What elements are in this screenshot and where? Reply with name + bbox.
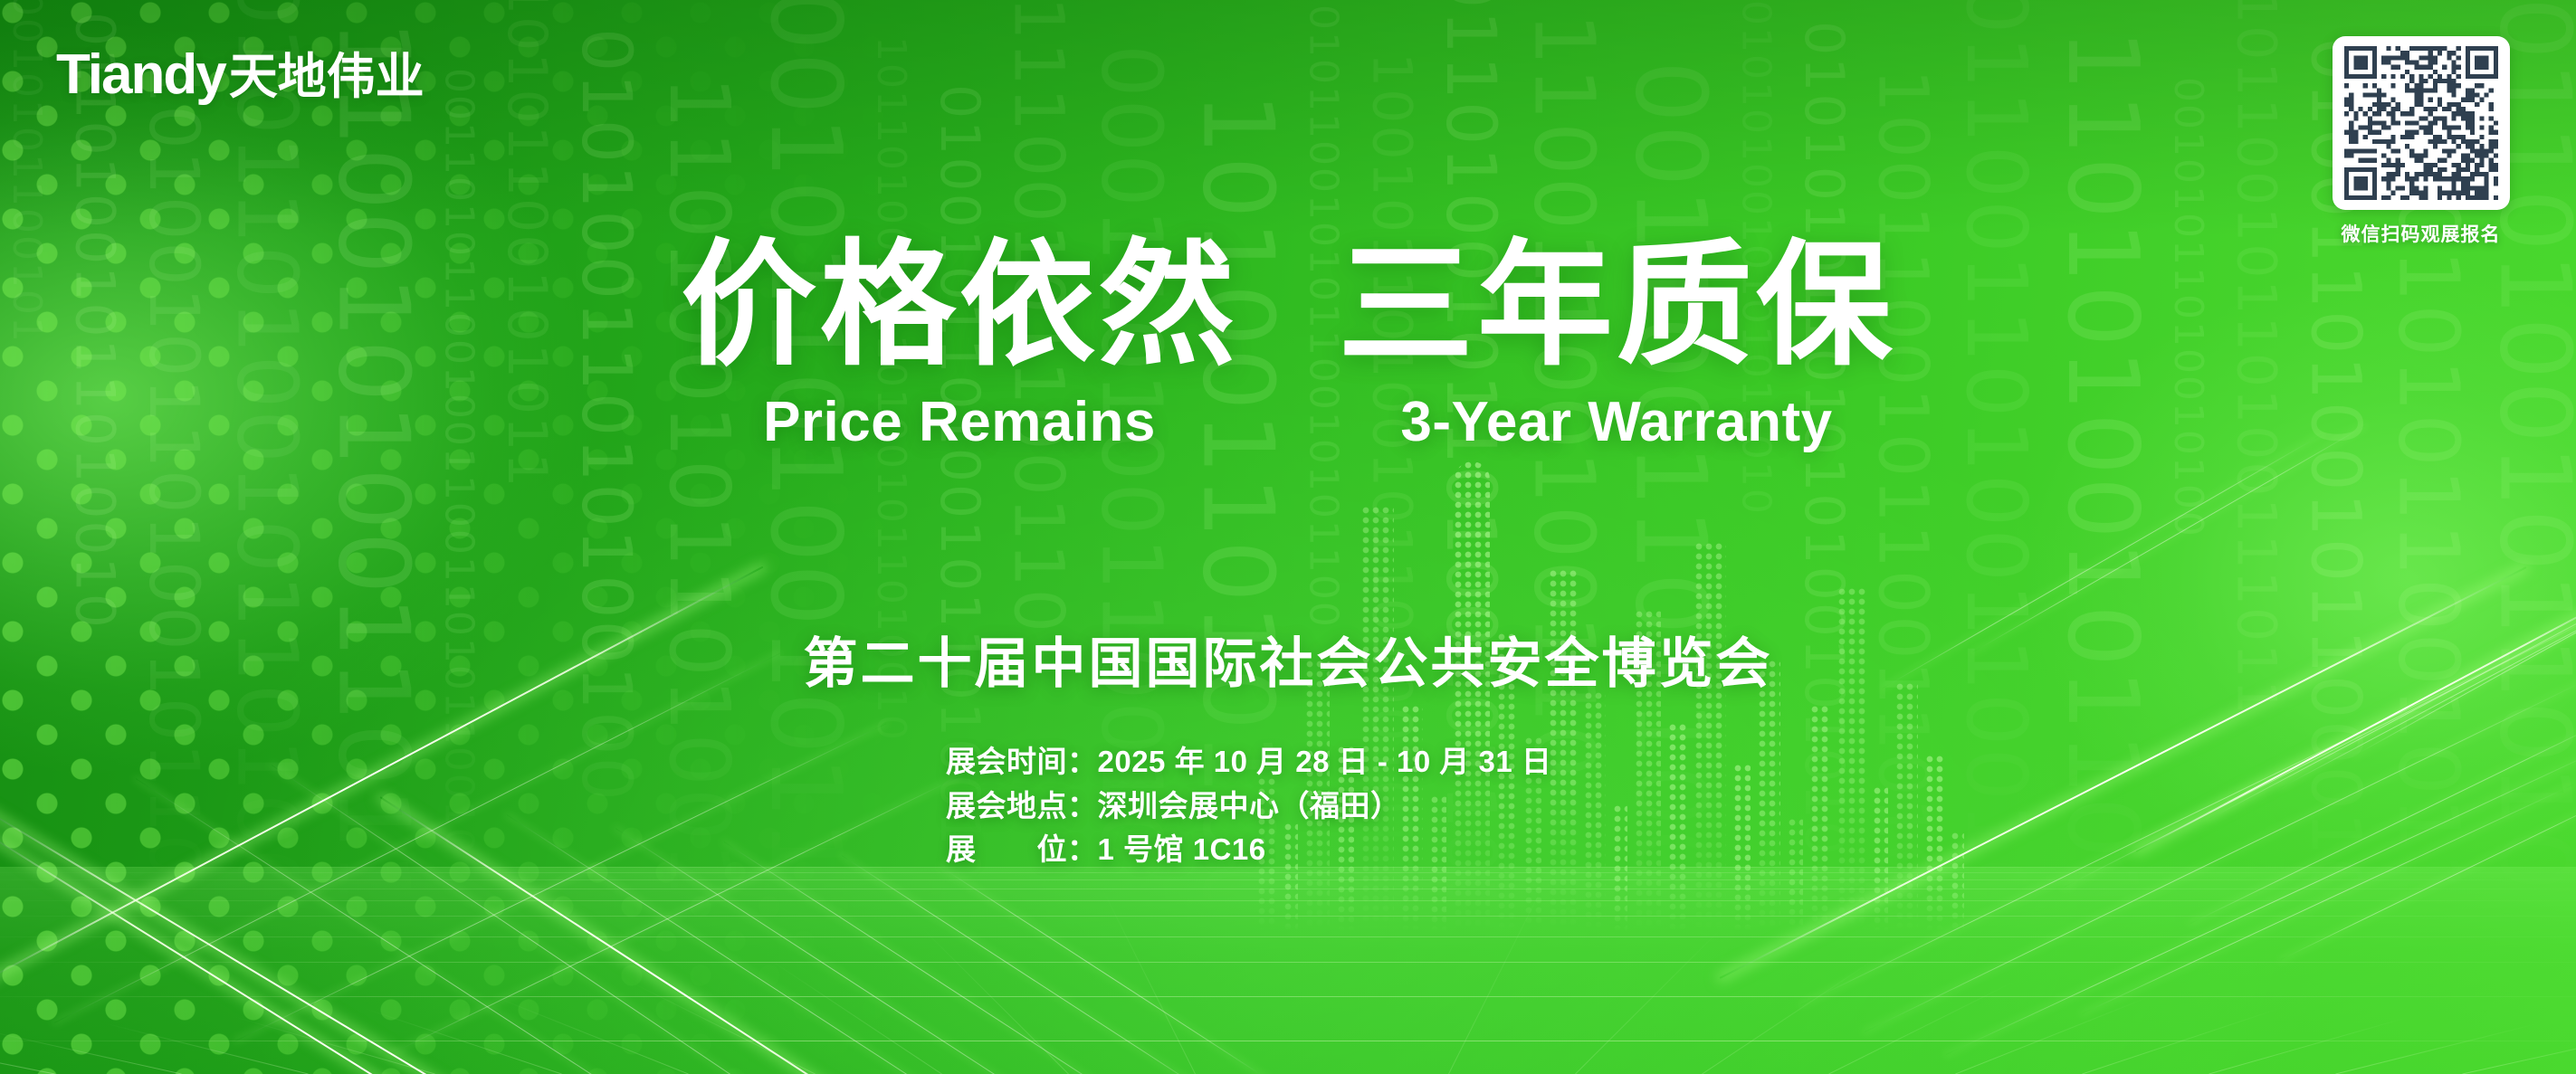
- brand-logo-mark: Tiandy: [56, 43, 225, 107]
- expo-details: 展会时间：2025 年 10 月 28 日 - 10 月 31 日 展会地点：深…: [946, 740, 1551, 872]
- expo-detail-booth: 展 位：1 号馆 1C16: [946, 828, 1551, 872]
- headline-group: 价格依然 Price Remains 三年质保 3-Year Warranty: [0, 233, 2576, 454]
- brand-logo: Tiandy 天地伟业: [56, 36, 425, 108]
- qr-registration-block[interactable]: 微信扫码观展报名: [2328, 36, 2514, 247]
- expo-title: 第二十届中国国际社会公共安全博览会: [0, 620, 2576, 699]
- brand-logo-chinese: 天地伟业: [229, 36, 425, 108]
- qr-code-icon[interactable]: [2333, 36, 2510, 210]
- expo-detail-venue: 展会地点：深圳会展中心（福田）: [946, 784, 1551, 829]
- promotional-banner: 1001010110010101101001011010010101001011…: [0, 0, 2576, 1074]
- headline-left: 价格依然 Price Remains: [681, 233, 1238, 454]
- headline-right-chinese: 三年质保: [1338, 233, 1895, 377]
- headline-right-english: 3-Year Warranty: [1400, 390, 1832, 454]
- headline-left-chinese: 价格依然: [681, 233, 1238, 377]
- expo-detail-date: 展会时间：2025 年 10 月 28 日 - 10 月 31 日: [946, 740, 1551, 784]
- qr-caption: 微信扫码观展报名: [2342, 220, 2501, 247]
- headline-left-english: Price Remains: [763, 390, 1156, 454]
- headline-right: 三年质保 3-Year Warranty: [1338, 233, 1895, 454]
